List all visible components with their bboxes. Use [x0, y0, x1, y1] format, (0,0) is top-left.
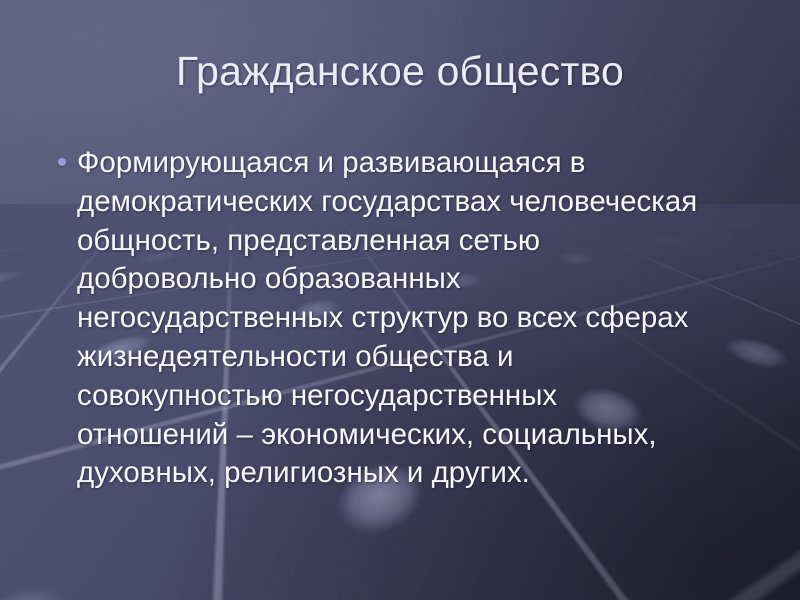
slide-title: Гражданское общество [0, 46, 800, 96]
slide-body: Формирующаяся и развивающаяся в демократ… [52, 144, 764, 493]
bullet-item: Формирующаяся и развивающаяся в демократ… [52, 144, 764, 493]
presentation-slide: Гражданское общество Формирующаяся и раз… [0, 0, 800, 600]
bullet-item-text: Формирующаяся и развивающаяся в демократ… [77, 144, 764, 493]
bullet-dot-icon [58, 158, 66, 166]
slide-content: Гражданское общество Формирующаяся и раз… [0, 0, 800, 600]
